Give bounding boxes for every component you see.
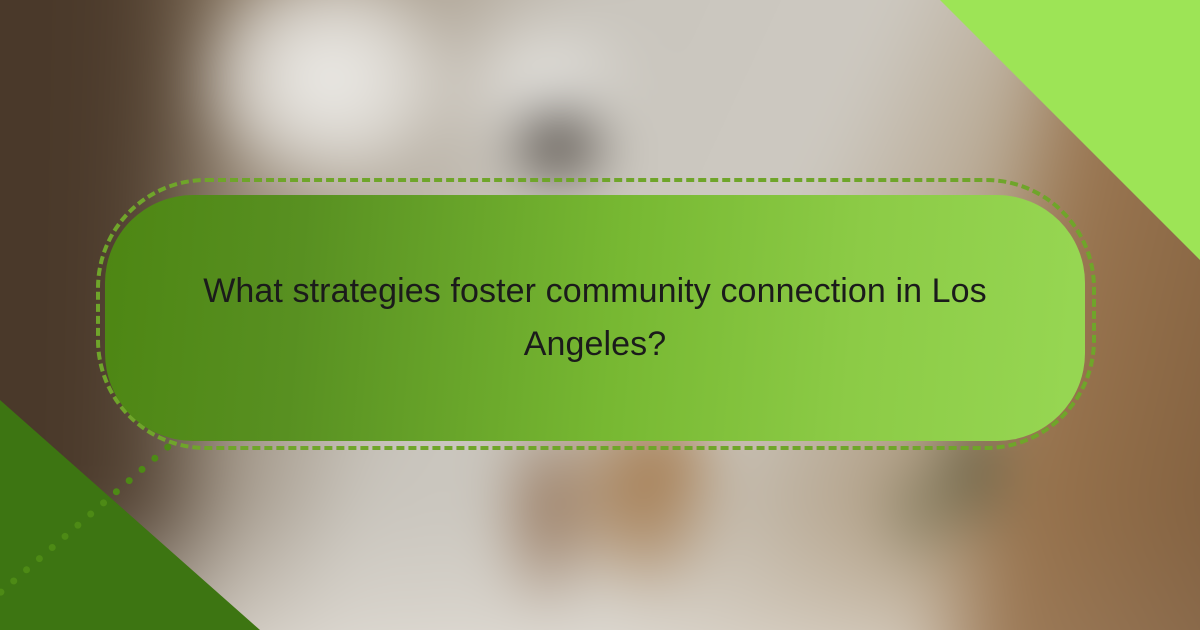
decorative-dot: [22, 565, 32, 575]
decorative-dot: [34, 554, 44, 564]
decorative-dot: [86, 509, 96, 519]
decorative-dot: [9, 576, 19, 586]
decorative-dot: [137, 464, 147, 474]
decorative-dot: [124, 476, 134, 486]
decorative-dot: [150, 453, 160, 463]
question-pill: What strategies foster community connect…: [105, 195, 1085, 441]
promo-card-canvas: What strategies foster community connect…: [0, 0, 1200, 630]
decorative-dot: [163, 442, 173, 452]
decorative-dot: [0, 587, 6, 597]
decorative-dot: [99, 498, 109, 508]
decorative-dot: [60, 531, 70, 541]
decorative-dot: [111, 487, 121, 497]
decorative-dot: [73, 520, 83, 530]
decorative-dot: [47, 543, 57, 553]
question-text: What strategies foster community connect…: [200, 265, 990, 370]
